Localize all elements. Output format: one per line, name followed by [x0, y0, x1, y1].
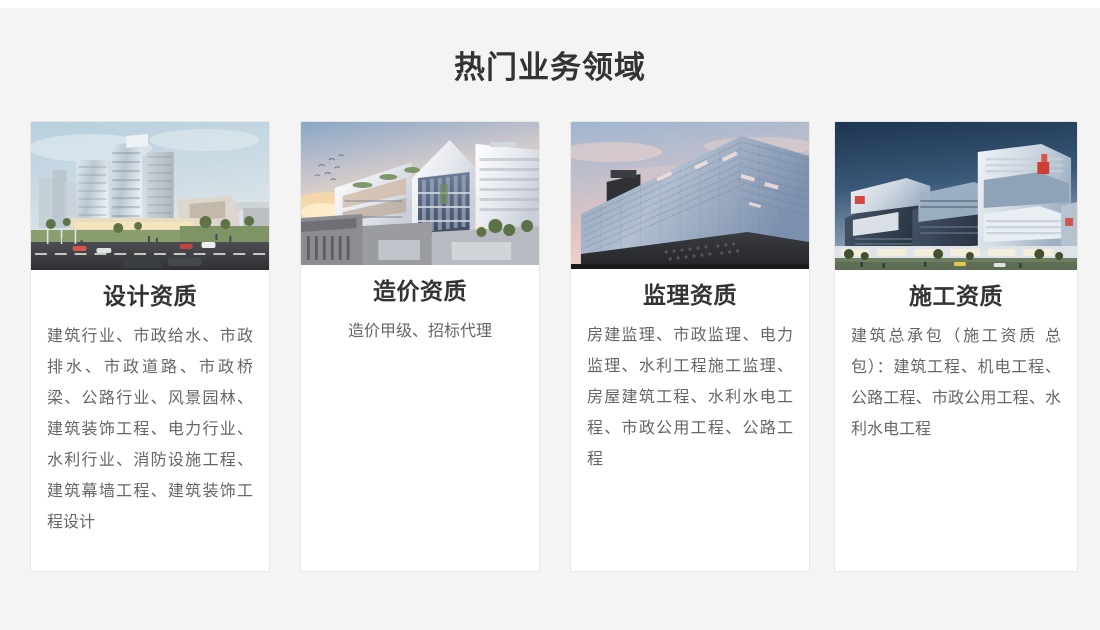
- card-body: 施工资质 建筑总承包（施工资质 总包）：建筑工程、机电工程、公路工程、市政公用工…: [835, 281, 1077, 445]
- card-image-design: [31, 122, 269, 270]
- business-card-cost[interactable]: 造价资质 造价甲级、招标代理: [300, 121, 540, 572]
- card-title: 施工资质: [851, 281, 1061, 311]
- business-card-design[interactable]: 设计资质 建筑行业、市政给水、市政排水、市政道路、市政桥梁、公路行业、风景园林、…: [30, 121, 270, 572]
- card-title: 造价资质: [317, 276, 523, 306]
- card-image-cost: [301, 122, 539, 265]
- business-card-supervision[interactable]: 监理资质 房建监理、市政监理、电力监理、水利工程施工监理、房屋建筑工程、水利水电…: [570, 121, 810, 572]
- card-title: 设计资质: [47, 281, 253, 311]
- card-body: 造价资质 造价甲级、招标代理: [301, 276, 539, 347]
- card-title: 监理资质: [587, 280, 793, 310]
- card-image-construction: [835, 122, 1077, 270]
- card-description: 造价甲级、招标代理: [317, 316, 523, 347]
- page-root: 热门业务领域: [0, 0, 1100, 630]
- page-title: 热门业务领域: [0, 47, 1100, 89]
- card-body: 监理资质 房建监理、市政监理、电力监理、水利工程施工监理、房屋建筑工程、水利水电…: [571, 280, 809, 475]
- card-body: 设计资质 建筑行业、市政给水、市政排水、市政道路、市政桥梁、公路行业、风景园林、…: [31, 281, 269, 538]
- card-description: 建筑总承包（施工资质 总包）：建筑工程、机电工程、公路工程、市政公用工程、水利水…: [851, 321, 1061, 445]
- card-description: 建筑行业、市政给水、市政排水、市政道路、市政桥梁、公路行业、风景园林、建筑装饰工…: [47, 321, 253, 538]
- business-card-construction[interactable]: 施工资质 建筑总承包（施工资质 总包）：建筑工程、机电工程、公路工程、市政公用工…: [834, 121, 1078, 572]
- card-image-supervision: [571, 122, 809, 269]
- card-description: 房建监理、市政监理、电力监理、水利工程施工监理、房屋建筑工程、水利水电工程、市政…: [587, 320, 793, 475]
